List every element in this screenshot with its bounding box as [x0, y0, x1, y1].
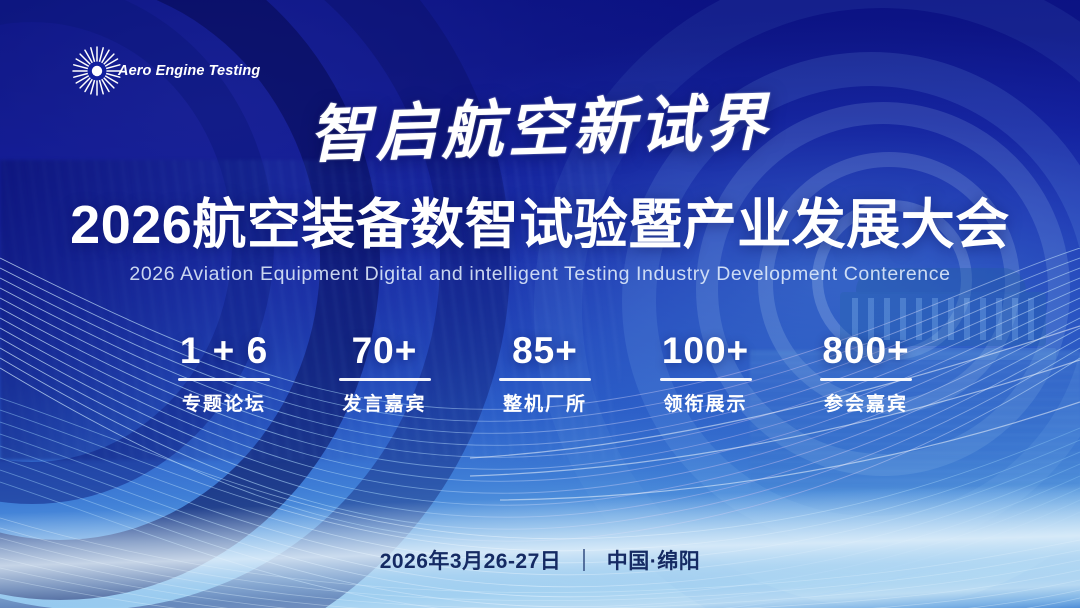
- stat-item: 800+ 参会嘉宾: [792, 332, 940, 416]
- stat-divider: [339, 378, 431, 381]
- turbine-sunburst-icon: [70, 44, 124, 98]
- stat-label: 整机厂所: [471, 389, 619, 416]
- stat-item: 100+ 领衔展示: [632, 332, 780, 416]
- stat-divider: [660, 378, 752, 381]
- stat-value: 100+: [632, 332, 780, 369]
- stat-label: 领衔展示: [632, 389, 780, 416]
- event-location: 中国·绵阳: [607, 545, 701, 575]
- stat-value: 1 + 6: [150, 332, 298, 369]
- stat-label: 发言嘉宾: [311, 389, 459, 416]
- conference-poster: Aero Engine Testing 智启航空新试界 2026航空装备数智试验…: [0, 0, 1080, 608]
- stats-row: 1 + 6 专题论坛 70+ 发言嘉宾 85+ 整机厂所 100+ 领衔展示 8…: [150, 332, 940, 416]
- stat-item: 85+ 整机厂所: [471, 332, 619, 416]
- stat-divider: [499, 378, 591, 381]
- stat-value: 800+: [792, 332, 940, 369]
- logo-text: Aero Engine Testing: [118, 63, 260, 79]
- stat-item: 70+ 发言嘉宾: [311, 332, 459, 416]
- stat-value: 70+: [311, 332, 459, 369]
- page-title: 2026航空装备数智试验暨产业发展大会: [0, 196, 1080, 254]
- aero-engine-testing-logo[interactable]: Aero Engine Testing: [70, 44, 260, 98]
- event-date: 2026年3月26-27日: [380, 545, 562, 575]
- stat-divider: [820, 378, 912, 381]
- stat-divider: [178, 378, 270, 381]
- stat-value: 85+: [471, 332, 619, 369]
- footer-separator: [583, 549, 585, 571]
- stat-label: 参会嘉宾: [792, 389, 940, 416]
- footer-info: 2026年3月26-27日 中国·绵阳: [0, 545, 1080, 575]
- page-subtitle-english: 2026 Aviation Equipment Digital and inte…: [0, 263, 1080, 286]
- stat-label: 专题论坛: [150, 389, 298, 416]
- stat-item: 1 + 6 专题论坛: [150, 332, 298, 416]
